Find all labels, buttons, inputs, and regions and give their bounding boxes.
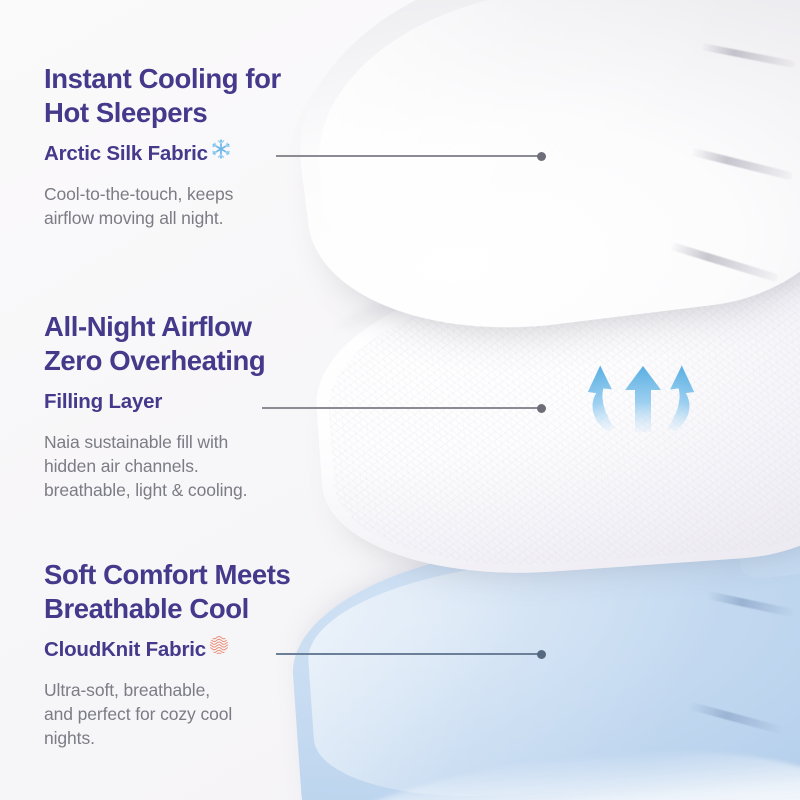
infographic-canvas: Instant Cooling for Hot Sleepers Arctic … [0, 0, 800, 800]
feature-headline: Soft Comfort Meets Breathable Cool [44, 558, 374, 626]
feature-subhead-row: Arctic Silk Fabric [44, 141, 374, 169]
upward-airflow-arrows [578, 362, 708, 434]
snowflake-icon [210, 138, 232, 160]
feature-block-filling-layer: All-Night Airflow Zero Overheating Filli… [44, 310, 374, 502]
feature-body: Ultra-soft, breathable, and perfect for … [44, 678, 374, 750]
feature-body: Cool-to-the-touch, keeps airflow moving … [44, 182, 374, 230]
knit-texture-icon [208, 634, 230, 656]
leader-endpoint-dot [537, 404, 546, 413]
feature-subhead: Arctic Silk Fabric [44, 144, 208, 165]
feature-block-arctic-silk: Instant Cooling for Hot Sleepers Arctic … [44, 62, 374, 230]
feature-subhead-row: Filling Layer [44, 389, 374, 417]
feature-subhead: CloudKnit Fabric [44, 640, 206, 661]
feature-subhead-row: CloudKnit Fabric [44, 637, 374, 665]
feature-body: Naia sustainable fill with hidden air ch… [44, 430, 374, 502]
leader-endpoint-dot [537, 152, 546, 161]
feature-block-cloudknit: Soft Comfort Meets Breathable Cool Cloud… [44, 558, 374, 750]
leader-endpoint-dot [537, 650, 546, 659]
feature-headline: Instant Cooling for Hot Sleepers [44, 62, 374, 130]
feature-headline: All-Night Airflow Zero Overheating [44, 310, 374, 378]
feature-subhead: Filling Layer [44, 392, 162, 413]
